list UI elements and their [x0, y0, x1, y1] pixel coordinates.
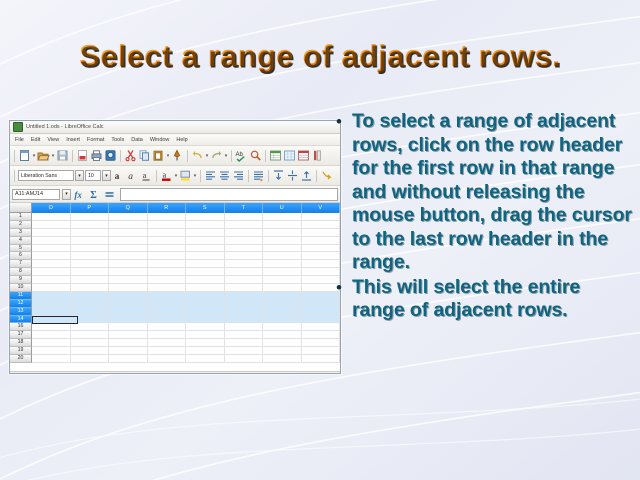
calc-formula-bar[interactable]: A11:AMJ14 ▾ fx Σ — [10, 186, 340, 203]
toolbar-separator — [316, 170, 317, 182]
cell-P16[interactable] — [71, 323, 110, 330]
row-header-2[interactable]: 2 — [10, 221, 32, 229]
row-header-14[interactable]: 14 — [10, 316, 32, 324]
cell-U17[interactable] — [263, 331, 302, 338]
cell-T17[interactable] — [225, 331, 264, 338]
paste-dropdown-icon[interactable]: ▾ — [166, 153, 170, 159]
spelling-icon[interactable]: Ab — [235, 149, 248, 162]
row-header-10[interactable]: 10 — [10, 284, 32, 292]
cell-S19[interactable] — [186, 347, 225, 354]
cell-R19[interactable] — [148, 347, 187, 354]
cell-Q20[interactable] — [109, 355, 148, 362]
cell-S7[interactable] — [186, 260, 225, 267]
new-icon[interactable] — [18, 149, 31, 162]
table-row[interactable] — [32, 284, 340, 292]
row-header-5[interactable]: 5 — [10, 245, 32, 253]
cell-T18[interactable] — [225, 339, 264, 346]
table-row[interactable] — [32, 252, 340, 260]
calc-formatting-toolbar[interactable]: Liberation Sans ▾ 10 ▾ a a a a ▾ ▾ — [10, 166, 340, 186]
cell-O10[interactable] — [32, 284, 71, 291]
cell-P9[interactable] — [71, 276, 110, 283]
cell-O6[interactable] — [32, 252, 71, 259]
cell-R4[interactable] — [148, 237, 187, 244]
cell-S9[interactable] — [186, 276, 225, 283]
name-box-dropdown-icon[interactable]: ▾ — [62, 189, 71, 200]
cell-S13[interactable] — [186, 308, 225, 315]
cell-S4[interactable] — [186, 237, 225, 244]
cell-R8[interactable] — [148, 268, 187, 275]
cell-S20[interactable] — [186, 355, 225, 362]
table-row[interactable] — [32, 339, 340, 347]
undo-dropdown-icon[interactable]: ▾ — [205, 153, 209, 159]
table-row[interactable] — [32, 260, 340, 268]
copy-icon[interactable] — [138, 149, 151, 162]
row-header-11[interactable]: 11 — [10, 292, 32, 300]
cell-P13[interactable] — [71, 308, 110, 315]
table-row[interactable] — [32, 308, 340, 316]
highlight-color-icon[interactable] — [179, 169, 192, 182]
cell-R6[interactable] — [148, 252, 187, 259]
cell-U13[interactable] — [263, 308, 302, 315]
cell-T13[interactable] — [225, 308, 264, 315]
cell-R5[interactable] — [148, 245, 187, 252]
cell-R12[interactable] — [148, 300, 187, 307]
menu-item-insert[interactable]: Insert — [66, 137, 80, 143]
row-header-16[interactable]: 16 — [10, 323, 32, 331]
cell-O13[interactable] — [32, 308, 71, 315]
cell-T3[interactable] — [225, 229, 264, 236]
row-header-7[interactable]: 7 — [10, 260, 32, 268]
toolbar-separator — [248, 170, 249, 182]
cell-S3[interactable] — [186, 229, 225, 236]
cell-R17[interactable] — [148, 331, 187, 338]
function-wizard-icon[interactable]: fx — [73, 188, 86, 201]
table-row[interactable] — [32, 276, 340, 284]
justified-icon[interactable] — [252, 169, 265, 182]
cell-T14[interactable] — [225, 316, 264, 323]
sort-icon[interactable] — [269, 149, 282, 162]
cell-O3[interactable] — [32, 229, 71, 236]
cell-P18[interactable] — [71, 339, 110, 346]
cell-R7[interactable] — [148, 260, 187, 267]
cell-R9[interactable] — [148, 276, 187, 283]
merge-cells-icon[interactable] — [320, 169, 333, 182]
cell-T8[interactable] — [225, 268, 264, 275]
cell-O12[interactable] — [32, 300, 71, 307]
font-color-dropdown-icon[interactable]: ▾ — [174, 173, 178, 179]
menu-item-window[interactable]: Window — [150, 137, 170, 143]
cell-U8[interactable] — [263, 268, 302, 275]
menu-item-edit[interactable]: Edit — [31, 137, 40, 143]
cell-U5[interactable] — [263, 245, 302, 252]
svg-text:a: a — [128, 172, 133, 182]
table-row[interactable] — [32, 331, 340, 339]
column-header-u[interactable]: U — [263, 203, 302, 213]
column-header-t[interactable]: T — [225, 203, 264, 213]
toolbar-separator — [156, 170, 157, 182]
cell-O19[interactable] — [32, 347, 71, 354]
cell-Q17[interactable] — [109, 331, 148, 338]
menu-item-file[interactable]: File — [15, 137, 24, 143]
column-header-p[interactable]: P — [71, 203, 110, 213]
row-header-13[interactable]: 13 — [10, 308, 32, 316]
bullet-icon: • — [334, 276, 352, 299]
calc-window-title: Untitled 1.ods - LibreOffice Calc — [26, 124, 104, 130]
table-row[interactable] — [32, 347, 340, 355]
cell-R13[interactable] — [148, 308, 187, 315]
cell-U20[interactable] — [263, 355, 302, 362]
cell-Q1[interactable] — [109, 213, 148, 220]
cell-Q12[interactable] — [109, 300, 148, 307]
font-color-icon[interactable]: a — [160, 169, 173, 182]
open-icon[interactable] — [37, 149, 50, 162]
toolbar-separator — [268, 170, 269, 182]
cell-R1[interactable] — [148, 213, 187, 220]
cell-V20[interactable] — [302, 355, 341, 362]
open-dropdown-icon[interactable]: ▾ — [51, 153, 55, 159]
cell-O1[interactable] — [32, 213, 71, 220]
row-header-20[interactable]: 20 — [10, 355, 32, 363]
row-header-12[interactable]: 12 — [10, 300, 32, 308]
cell-Q8[interactable] — [109, 268, 148, 275]
sum-icon[interactable]: Σ — [88, 188, 101, 201]
cell-S18[interactable] — [186, 339, 225, 346]
cell-S16[interactable] — [186, 323, 225, 330]
cell-O11[interactable] — [32, 292, 71, 299]
cell-O8[interactable] — [32, 268, 71, 275]
table-row[interactable] — [32, 316, 340, 324]
cell-Q5[interactable] — [109, 245, 148, 252]
cell-Q19[interactable] — [109, 347, 148, 354]
cell-Q6[interactable] — [109, 252, 148, 259]
bullet-text-1: To select a range of adjacent rows, clic… — [352, 110, 634, 275]
toolbar-separator — [231, 150, 232, 162]
cell-U3[interactable] — [263, 229, 302, 236]
cell-Q14[interactable] — [109, 316, 148, 323]
cell-O18[interactable] — [32, 339, 71, 346]
calc-title-bar: Untitled 1.ods - LibreOffice Calc — [10, 121, 340, 134]
bold-icon[interactable]: a — [112, 169, 125, 182]
cell-S5[interactable] — [186, 245, 225, 252]
undo-icon[interactable] — [191, 149, 204, 162]
cell-Q13[interactable] — [109, 308, 148, 315]
cell-T2[interactable] — [225, 221, 264, 228]
font-size-dropdown-icon[interactable]: ▾ — [102, 170, 111, 181]
cell-P3[interactable] — [71, 229, 110, 236]
toolbar-grip — [14, 150, 15, 162]
cell-T12[interactable] — [225, 300, 264, 307]
cell-T10[interactable] — [225, 284, 264, 291]
menu-item-help[interactable]: Help — [176, 137, 187, 143]
cell-U10[interactable] — [263, 284, 302, 291]
cell-O9[interactable] — [32, 276, 71, 283]
menu-item-tools[interactable]: Tools — [111, 137, 124, 143]
cell-P17[interactable] — [71, 331, 110, 338]
cell-S2[interactable] — [186, 221, 225, 228]
cell-Q3[interactable] — [109, 229, 148, 236]
cell-V17[interactable] — [302, 331, 341, 338]
align-center-icon[interactable] — [218, 169, 231, 182]
cell-Q7[interactable] — [109, 260, 148, 267]
table-row[interactable] — [32, 355, 340, 363]
menu-item-format[interactable]: Format — [87, 137, 104, 143]
underline-icon[interactable]: a — [140, 169, 153, 182]
cell-Q11[interactable] — [109, 292, 148, 299]
libreoffice-calc-screenshot: Untitled 1.ods - LibreOffice Calc File E… — [9, 120, 341, 374]
slide-canvas: Select a range of adjacent rows. Select … — [0, 0, 640, 480]
cell-S14[interactable] — [186, 316, 225, 323]
insert-table-icon[interactable] — [283, 149, 296, 162]
formula-equals-icon[interactable] — [103, 188, 116, 201]
column-header-s[interactable]: S — [186, 203, 225, 213]
cell-P10[interactable] — [71, 284, 110, 291]
table-row[interactable] — [32, 221, 340, 229]
cell-S1[interactable] — [186, 213, 225, 220]
table-row[interactable] — [32, 268, 340, 276]
cell-U12[interactable] — [263, 300, 302, 307]
table-row[interactable] — [32, 229, 340, 237]
row-header-18[interactable]: 18 — [10, 339, 32, 347]
redo-icon[interactable] — [210, 149, 223, 162]
cell-T7[interactable] — [225, 260, 264, 267]
row-header-19[interactable]: 19 — [10, 347, 32, 355]
cell-P2[interactable] — [71, 221, 110, 228]
calc-sheet-grid[interactable]: O P Q R S T U V 123456789101112131416171… — [10, 203, 340, 371]
cell-R18[interactable] — [148, 339, 187, 346]
cell-V19[interactable] — [302, 347, 341, 354]
active-cell-cursor — [32, 316, 78, 324]
cell-T5[interactable] — [225, 245, 264, 252]
cell-R16[interactable] — [148, 323, 187, 330]
column-header-r[interactable]: R — [148, 203, 187, 213]
cell-P19[interactable] — [71, 347, 110, 354]
name-box[interactable]: A11:AMJ14 — [12, 189, 60, 200]
cell-R14[interactable] — [148, 316, 187, 323]
cell-V18[interactable] — [302, 339, 341, 346]
cell-T20[interactable] — [225, 355, 264, 362]
cell-O7[interactable] — [32, 260, 71, 267]
cell-T1[interactable] — [225, 213, 264, 220]
calc-status-area — [10, 371, 340, 374]
cell-U4[interactable] — [263, 237, 302, 244]
cell-Q18[interactable] — [109, 339, 148, 346]
cell-R2[interactable] — [148, 221, 187, 228]
insert-chart-icon[interactable] — [297, 149, 310, 162]
body-text-block: • To select a range of adjacent rows, cl… — [334, 110, 634, 324]
cell-O4[interactable] — [32, 237, 71, 244]
page-title: Select a range of adjacent rows. — [0, 38, 640, 74]
table-row[interactable] — [32, 237, 340, 245]
cut-icon[interactable] — [124, 149, 137, 162]
font-name-input[interactable]: Liberation Sans — [18, 170, 74, 181]
cell-T16[interactable] — [225, 323, 264, 330]
cell-T9[interactable] — [225, 276, 264, 283]
cell-P8[interactable] — [71, 268, 110, 275]
toolbar-separator — [265, 150, 266, 162]
row-header-8[interactable]: 8 — [10, 268, 32, 276]
row-header-1[interactable]: 1 — [10, 213, 32, 221]
cell-R11[interactable] — [148, 292, 187, 299]
calc-document-icon — [13, 122, 23, 132]
cell-P7[interactable] — [71, 260, 110, 267]
table-row[interactable] — [32, 213, 340, 221]
font-name-dropdown-icon[interactable]: ▾ — [75, 170, 84, 181]
redo-dropdown-icon[interactable]: ▾ — [224, 153, 228, 159]
cell-Q4[interactable] — [109, 237, 148, 244]
cell-U14[interactable] — [263, 316, 302, 323]
cell-T19[interactable] — [225, 347, 264, 354]
new-dropdown-icon[interactable]: ▾ — [32, 153, 36, 159]
formula-input-line[interactable] — [120, 188, 338, 201]
save-icon[interactable] — [56, 149, 69, 162]
cell-R10[interactable] — [148, 284, 187, 291]
cell-S8[interactable] — [186, 268, 225, 275]
svg-text:Σ: Σ — [90, 190, 97, 201]
table-row[interactable] — [32, 300, 340, 308]
menu-item-data[interactable]: Data — [131, 137, 143, 143]
row-header-4[interactable]: 4 — [10, 237, 32, 245]
bullet-icon: • — [334, 110, 352, 133]
insert-image-icon[interactable] — [311, 149, 324, 162]
cell-Q10[interactable] — [109, 284, 148, 291]
row-header-17[interactable]: 17 — [10, 331, 32, 339]
table-row[interactable] — [32, 292, 340, 300]
toolbar-separator — [72, 150, 73, 162]
table-row[interactable] — [32, 245, 340, 253]
cell-U6[interactable] — [263, 252, 302, 259]
cell-P12[interactable] — [71, 300, 110, 307]
cell-S10[interactable] — [186, 284, 225, 291]
cell-Q9[interactable] — [109, 276, 148, 283]
clone-formatting-icon[interactable] — [171, 149, 184, 162]
list-item: • To select a range of adjacent rows, cl… — [334, 110, 634, 275]
align-top-icon[interactable] — [272, 169, 285, 182]
cell-P11[interactable] — [71, 292, 110, 299]
row-header-column[interactable]: 12345678910111213141617181920 — [10, 213, 32, 371]
row-header-3[interactable]: 3 — [10, 229, 32, 237]
cell-S6[interactable] — [186, 252, 225, 259]
cell-R3[interactable] — [148, 229, 187, 236]
cell-U11[interactable] — [263, 292, 302, 299]
cell-U7[interactable] — [263, 260, 302, 267]
list-item: • This will select the entire range of a… — [334, 276, 634, 323]
cell-T6[interactable] — [225, 252, 264, 259]
cell-U18[interactable] — [263, 339, 302, 346]
cell-P1[interactable] — [71, 213, 110, 220]
cell-P20[interactable] — [71, 355, 110, 362]
cell-S17[interactable] — [186, 331, 225, 338]
cell-P5[interactable] — [71, 245, 110, 252]
highlight-color-dropdown-icon[interactable]: ▾ — [193, 173, 197, 179]
select-all-corner-button[interactable] — [10, 203, 32, 213]
cell-R20[interactable] — [148, 355, 187, 362]
align-bottom-icon[interactable] — [300, 169, 313, 182]
export-pdf-icon[interactable] — [76, 149, 89, 162]
menu-item-view[interactable]: View — [47, 137, 59, 143]
svg-text:a: a — [143, 170, 147, 180]
cell-P6[interactable] — [71, 252, 110, 259]
cell-U2[interactable] — [263, 221, 302, 228]
cell-S12[interactable] — [186, 300, 225, 307]
calc-standard-toolbar[interactable]: ▾ ▾ — [10, 146, 340, 166]
cell-U9[interactable] — [263, 276, 302, 283]
center-vertically-icon[interactable] — [286, 169, 299, 182]
cell-S11[interactable] — [186, 292, 225, 299]
cell-O17[interactable] — [32, 331, 71, 338]
align-right-icon[interactable] — [232, 169, 245, 182]
row-header-6[interactable]: 6 — [10, 252, 32, 260]
cell-V16[interactable] — [302, 323, 341, 330]
row-header-9[interactable]: 9 — [10, 276, 32, 284]
print-preview-icon[interactable] — [104, 149, 117, 162]
cell-O16[interactable] — [32, 323, 71, 330]
toolbar-separator — [187, 150, 188, 162]
svg-text:Ab: Ab — [236, 152, 244, 158]
column-header-row[interactable]: O P Q R S T U V — [10, 203, 340, 213]
cell-U1[interactable] — [263, 213, 302, 220]
print-icon[interactable] — [90, 149, 103, 162]
svg-text:fx: fx — [74, 190, 82, 200]
cell-T4[interactable] — [225, 237, 264, 244]
grid-body: 12345678910111213141617181920 — [10, 213, 340, 371]
bullet-text-2: This will select the entire range of adj… — [352, 276, 634, 323]
cell-O2[interactable] — [32, 221, 71, 228]
cell-T11[interactable] — [225, 292, 264, 299]
cell-O5[interactable] — [32, 245, 71, 252]
toolbar-separator — [200, 170, 201, 182]
toolbar-grip — [14, 170, 15, 182]
cell-P4[interactable] — [71, 237, 110, 244]
cell-area[interactable] — [32, 213, 340, 371]
calc-menu-bar[interactable]: File Edit View Insert Format Tools Data … — [10, 134, 340, 146]
align-left-icon[interactable] — [204, 169, 217, 182]
cell-Q16[interactable] — [109, 323, 148, 330]
toolbar-separator — [120, 150, 121, 162]
table-row[interactable] — [32, 323, 340, 331]
paste-icon[interactable] — [152, 149, 165, 162]
italic-icon[interactable]: a — [126, 169, 139, 182]
cell-O20[interactable] — [32, 355, 71, 362]
font-size-input[interactable]: 10 — [85, 170, 101, 181]
cell-Q2[interactable] — [109, 221, 148, 228]
cell-U16[interactable] — [263, 323, 302, 330]
svg-text:a: a — [115, 172, 120, 182]
svg-text:a: a — [163, 171, 167, 180]
column-header-q[interactable]: Q — [109, 203, 148, 213]
find-replace-icon[interactable] — [249, 149, 262, 162]
cell-U19[interactable] — [263, 347, 302, 354]
column-header-o[interactable]: O — [32, 203, 71, 213]
